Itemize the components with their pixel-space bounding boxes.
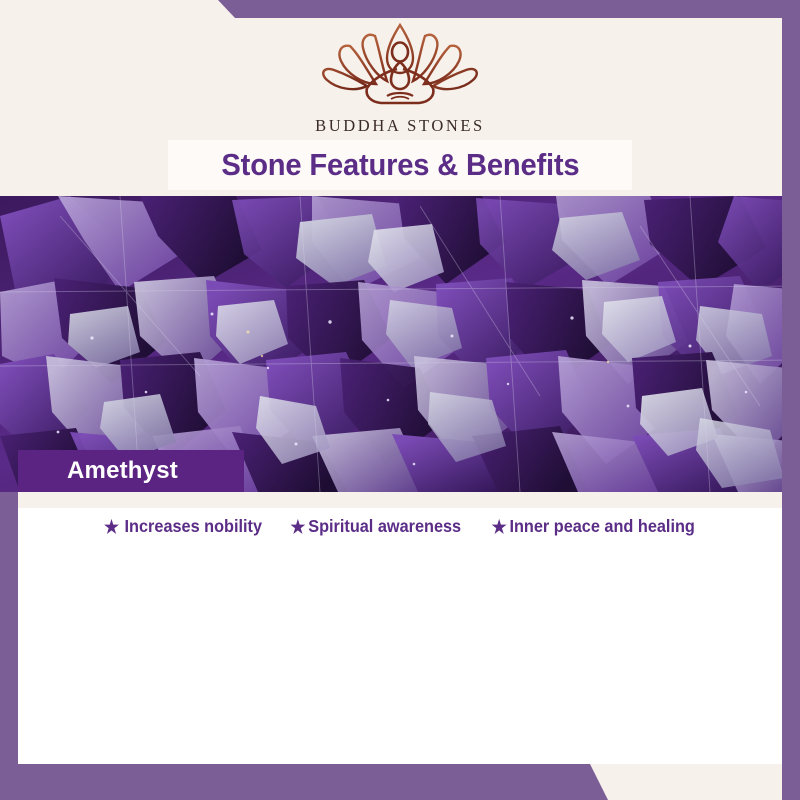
benefit-item-2: ★ Spiritual awareness bbox=[290, 516, 461, 537]
benefit-item-1: ★ Increases nobility bbox=[104, 516, 262, 537]
benefits-list: ★ Increases nobility ★ Spiritual awarene… bbox=[18, 516, 782, 537]
star-icon: ★ bbox=[491, 518, 506, 536]
page-title: Stone Features & Benefits bbox=[221, 147, 579, 183]
product-info-poster: BUDDHA STONES Stone Features & Benefits bbox=[0, 0, 800, 800]
star-icon: ★ bbox=[290, 518, 305, 536]
brand-wordmark: BUDDHA STONES bbox=[0, 116, 800, 136]
star-icon: ★ bbox=[104, 518, 119, 536]
stone-name-banner: Amethyst bbox=[18, 450, 244, 492]
brand-logo: BUDDHA STONES bbox=[0, 22, 800, 136]
panel-top-strip bbox=[18, 492, 782, 508]
benefit-item-3: ★ Inner peace and healing bbox=[491, 516, 694, 537]
frame-bottom-band bbox=[0, 764, 800, 800]
benefit-label-1: Increases nobility bbox=[125, 516, 262, 537]
amethyst-photo bbox=[0, 196, 800, 492]
title-banner: Stone Features & Benefits bbox=[168, 140, 632, 190]
lotus-meditation-icon bbox=[317, 22, 483, 114]
frame-right-band bbox=[782, 0, 800, 800]
stone-name-label: Amethyst bbox=[18, 457, 178, 485]
benefit-label-2: Spiritual awareness bbox=[308, 516, 461, 537]
frame-left-band bbox=[0, 492, 18, 800]
benefit-label-3: Inner peace and healing bbox=[509, 516, 694, 537]
amethyst-crystal-cluster-graphic bbox=[0, 196, 800, 492]
